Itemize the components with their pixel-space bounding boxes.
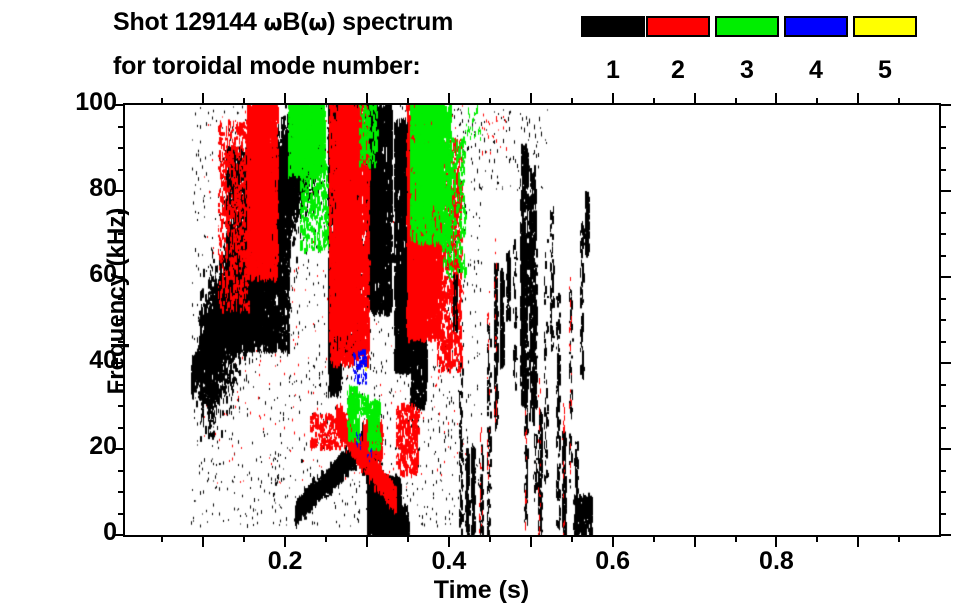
x-tick-0.80-t [775, 93, 777, 105]
x-tick-0.35-t [407, 98, 409, 105]
x-tick-0.40-t [448, 93, 450, 105]
y-tick-75-r [939, 212, 946, 214]
x-tick-0.70-t [694, 93, 696, 105]
x-tick-0.85 [816, 535, 818, 542]
x-tick-0.30-t [366, 93, 368, 105]
legend-label-3: 3 [715, 56, 779, 85]
x-tick-0.25-t [325, 98, 327, 105]
x-tick-0.35 [407, 535, 409, 542]
y-tick-label-0: 0 [103, 518, 117, 547]
y-tick-15 [118, 470, 125, 472]
x-tick-label-0.8: 0.8 [736, 547, 816, 576]
y-tick-70-r [939, 233, 946, 235]
y-tick-10-r [939, 491, 946, 493]
x-tick-0.55-t [571, 98, 573, 105]
legend-caption: for toroidal mode number: [113, 52, 421, 81]
x-tick-0.10-t [202, 93, 204, 105]
x-tick-0.05-t [161, 98, 163, 105]
x-tick-0.90 [857, 535, 859, 547]
x-tick-0.75-t [735, 98, 737, 105]
x-tick-0.95-t [898, 98, 900, 105]
x-tick-0.85-t [816, 98, 818, 105]
y-tick-80-r [939, 190, 951, 192]
legend-swatch-5 [853, 16, 917, 37]
x-tick-0.65-t [653, 98, 655, 105]
x-tick-0.65 [653, 535, 655, 542]
x-tick-0.95 [898, 535, 900, 542]
x-axis-title: Time (s) [0, 576, 963, 605]
plot-area: Frequency (kHz) 0204060801000.20.40.60.8 [123, 103, 941, 537]
y-tick-55 [118, 298, 125, 300]
spectrogram-data-canvas [125, 105, 939, 535]
x-tick-0.20 [284, 535, 286, 547]
y-tick-85 [118, 169, 125, 171]
y-tick-100-r [939, 104, 951, 106]
x-tick-0.70 [694, 535, 696, 547]
legend: 12345 [581, 16, 951, 86]
y-tick-label-100: 100 [75, 88, 117, 117]
y-tick-55-r [939, 298, 946, 300]
y-tick-95-r [939, 126, 946, 128]
y-tick-70 [118, 233, 125, 235]
data-region [125, 105, 939, 535]
y-tick-90-r [939, 147, 946, 149]
x-tick-label-0.4: 0.4 [409, 547, 489, 576]
x-tick-0.80 [775, 535, 777, 547]
x-tick-label-0.2: 0.2 [245, 547, 325, 576]
y-tick-50 [118, 319, 125, 321]
x-tick-0.15-t [243, 98, 245, 105]
y-tick-40-r [939, 362, 951, 364]
x-tick-0.45-t [489, 98, 491, 105]
y-tick-25-r [939, 427, 946, 429]
y-tick-30 [118, 405, 125, 407]
y-tick-60-r [939, 276, 951, 278]
y-tick-35 [118, 384, 125, 386]
y-tick-label-80: 80 [89, 174, 117, 203]
title-b-text: B( [282, 8, 308, 36]
y-tick-30-r [939, 405, 946, 407]
y-tick-10 [118, 491, 125, 493]
legend-label-1: 1 [581, 56, 645, 85]
x-tick-0.20-t [284, 93, 286, 105]
y-tick-65 [118, 255, 125, 257]
legend-swatch-4 [784, 16, 848, 37]
spectrogram-figure: Shot 129144 ωB(ω) spectrum for toroidal … [0, 0, 963, 615]
x-tick-0.50 [530, 535, 532, 547]
omega-symbol-2: ω [308, 11, 327, 36]
x-tick-0.75 [735, 535, 737, 542]
page-title: Shot 129144 ωB(ω) spectrum [113, 8, 453, 37]
y-tick-75 [118, 212, 125, 214]
title-shot-text: Shot 129144 [113, 8, 263, 36]
x-tick-label-0.6: 0.6 [573, 547, 653, 576]
y-tick-95 [118, 126, 125, 128]
x-tick-0.15 [243, 535, 245, 542]
y-tick-90 [118, 147, 125, 149]
x-tick-0.45 [489, 535, 491, 542]
x-tick-0.55 [571, 535, 573, 542]
x-tick-0.30 [366, 535, 368, 547]
y-tick-5-r [939, 513, 946, 515]
x-tick-0.40 [448, 535, 450, 547]
legend-swatch-2 [646, 16, 710, 37]
x-tick-0.60 [612, 535, 614, 547]
x-tick-0.60-t [612, 93, 614, 105]
y-tick-0-r [939, 534, 951, 536]
x-tick-0.90-t [857, 93, 859, 105]
legend-swatch-3 [715, 16, 779, 37]
legend-swatch-1 [581, 16, 645, 37]
y-tick-label-40: 40 [89, 346, 117, 375]
legend-label-4: 4 [784, 56, 848, 85]
x-tick-0.05 [161, 535, 163, 542]
y-tick-label-60: 60 [89, 260, 117, 289]
y-tick-45 [118, 341, 125, 343]
y-tick-label-20: 20 [89, 432, 117, 461]
x-tick-0.10 [202, 535, 204, 547]
y-tick-15-r [939, 470, 946, 472]
y-tick-35-r [939, 384, 946, 386]
x-tick-0.25 [325, 535, 327, 542]
y-tick-45-r [939, 341, 946, 343]
title-spectrum-text: ) spectrum [327, 8, 453, 36]
y-tick-50-r [939, 319, 946, 321]
y-tick-20-r [939, 448, 951, 450]
y-tick-5 [118, 513, 125, 515]
legend-label-5: 5 [853, 56, 917, 85]
legend-label-2: 2 [646, 56, 710, 85]
y-tick-65-r [939, 255, 946, 257]
x-tick-0.50-t [530, 93, 532, 105]
y-tick-85-r [939, 169, 946, 171]
omega-symbol-1: ω [263, 11, 282, 36]
y-tick-25 [118, 427, 125, 429]
